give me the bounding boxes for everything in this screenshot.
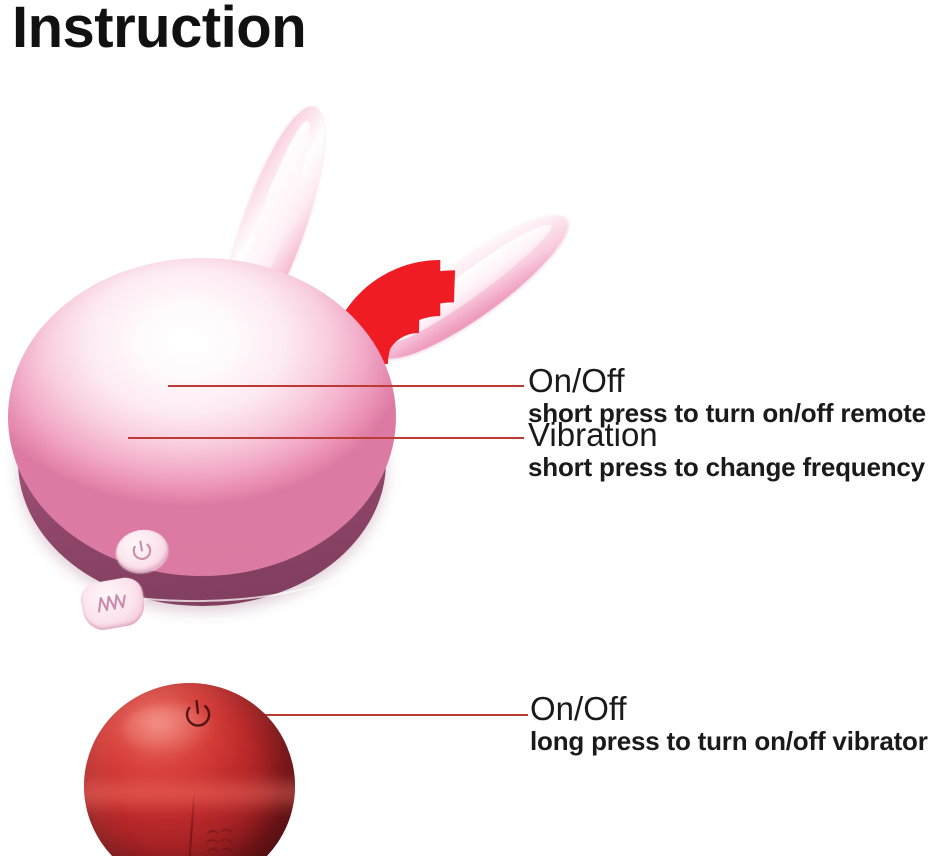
annotation-vibration: Vibration short press to change frequenc… bbox=[528, 418, 925, 482]
leader-line-vibration bbox=[128, 437, 524, 439]
annotation-vibration-detail: short press to change frequency bbox=[528, 453, 925, 482]
annotation-vibration-title: Vibration bbox=[528, 418, 925, 453]
remote-illustration bbox=[0, 90, 600, 610]
remote-top-face bbox=[8, 258, 396, 576]
annotation-onoff-vibrator-detail: long press to turn on/off vibrator bbox=[530, 727, 928, 756]
annotation-onoff-remote-title: On/Off bbox=[528, 364, 926, 399]
power-icon bbox=[127, 536, 157, 566]
annotation-onoff-vibrator-title: On/Off bbox=[530, 692, 928, 727]
page-title: Instruction bbox=[12, 0, 306, 60]
instruction-page: Instruction bbox=[0, 0, 952, 856]
vibrator-egg-illustration bbox=[84, 683, 298, 856]
vibration-wave-icon bbox=[92, 588, 134, 620]
remote-body bbox=[8, 258, 396, 606]
leader-line-onoff-remote bbox=[168, 385, 524, 387]
egg-embossed-marks bbox=[204, 827, 244, 856]
remote-vibration-button[interactable] bbox=[78, 575, 147, 633]
annotation-onoff-vibrator: On/Off long press to turn on/off vibrato… bbox=[530, 692, 928, 756]
egg-reflection-band bbox=[84, 774, 295, 815]
egg-power-icon bbox=[179, 695, 216, 732]
